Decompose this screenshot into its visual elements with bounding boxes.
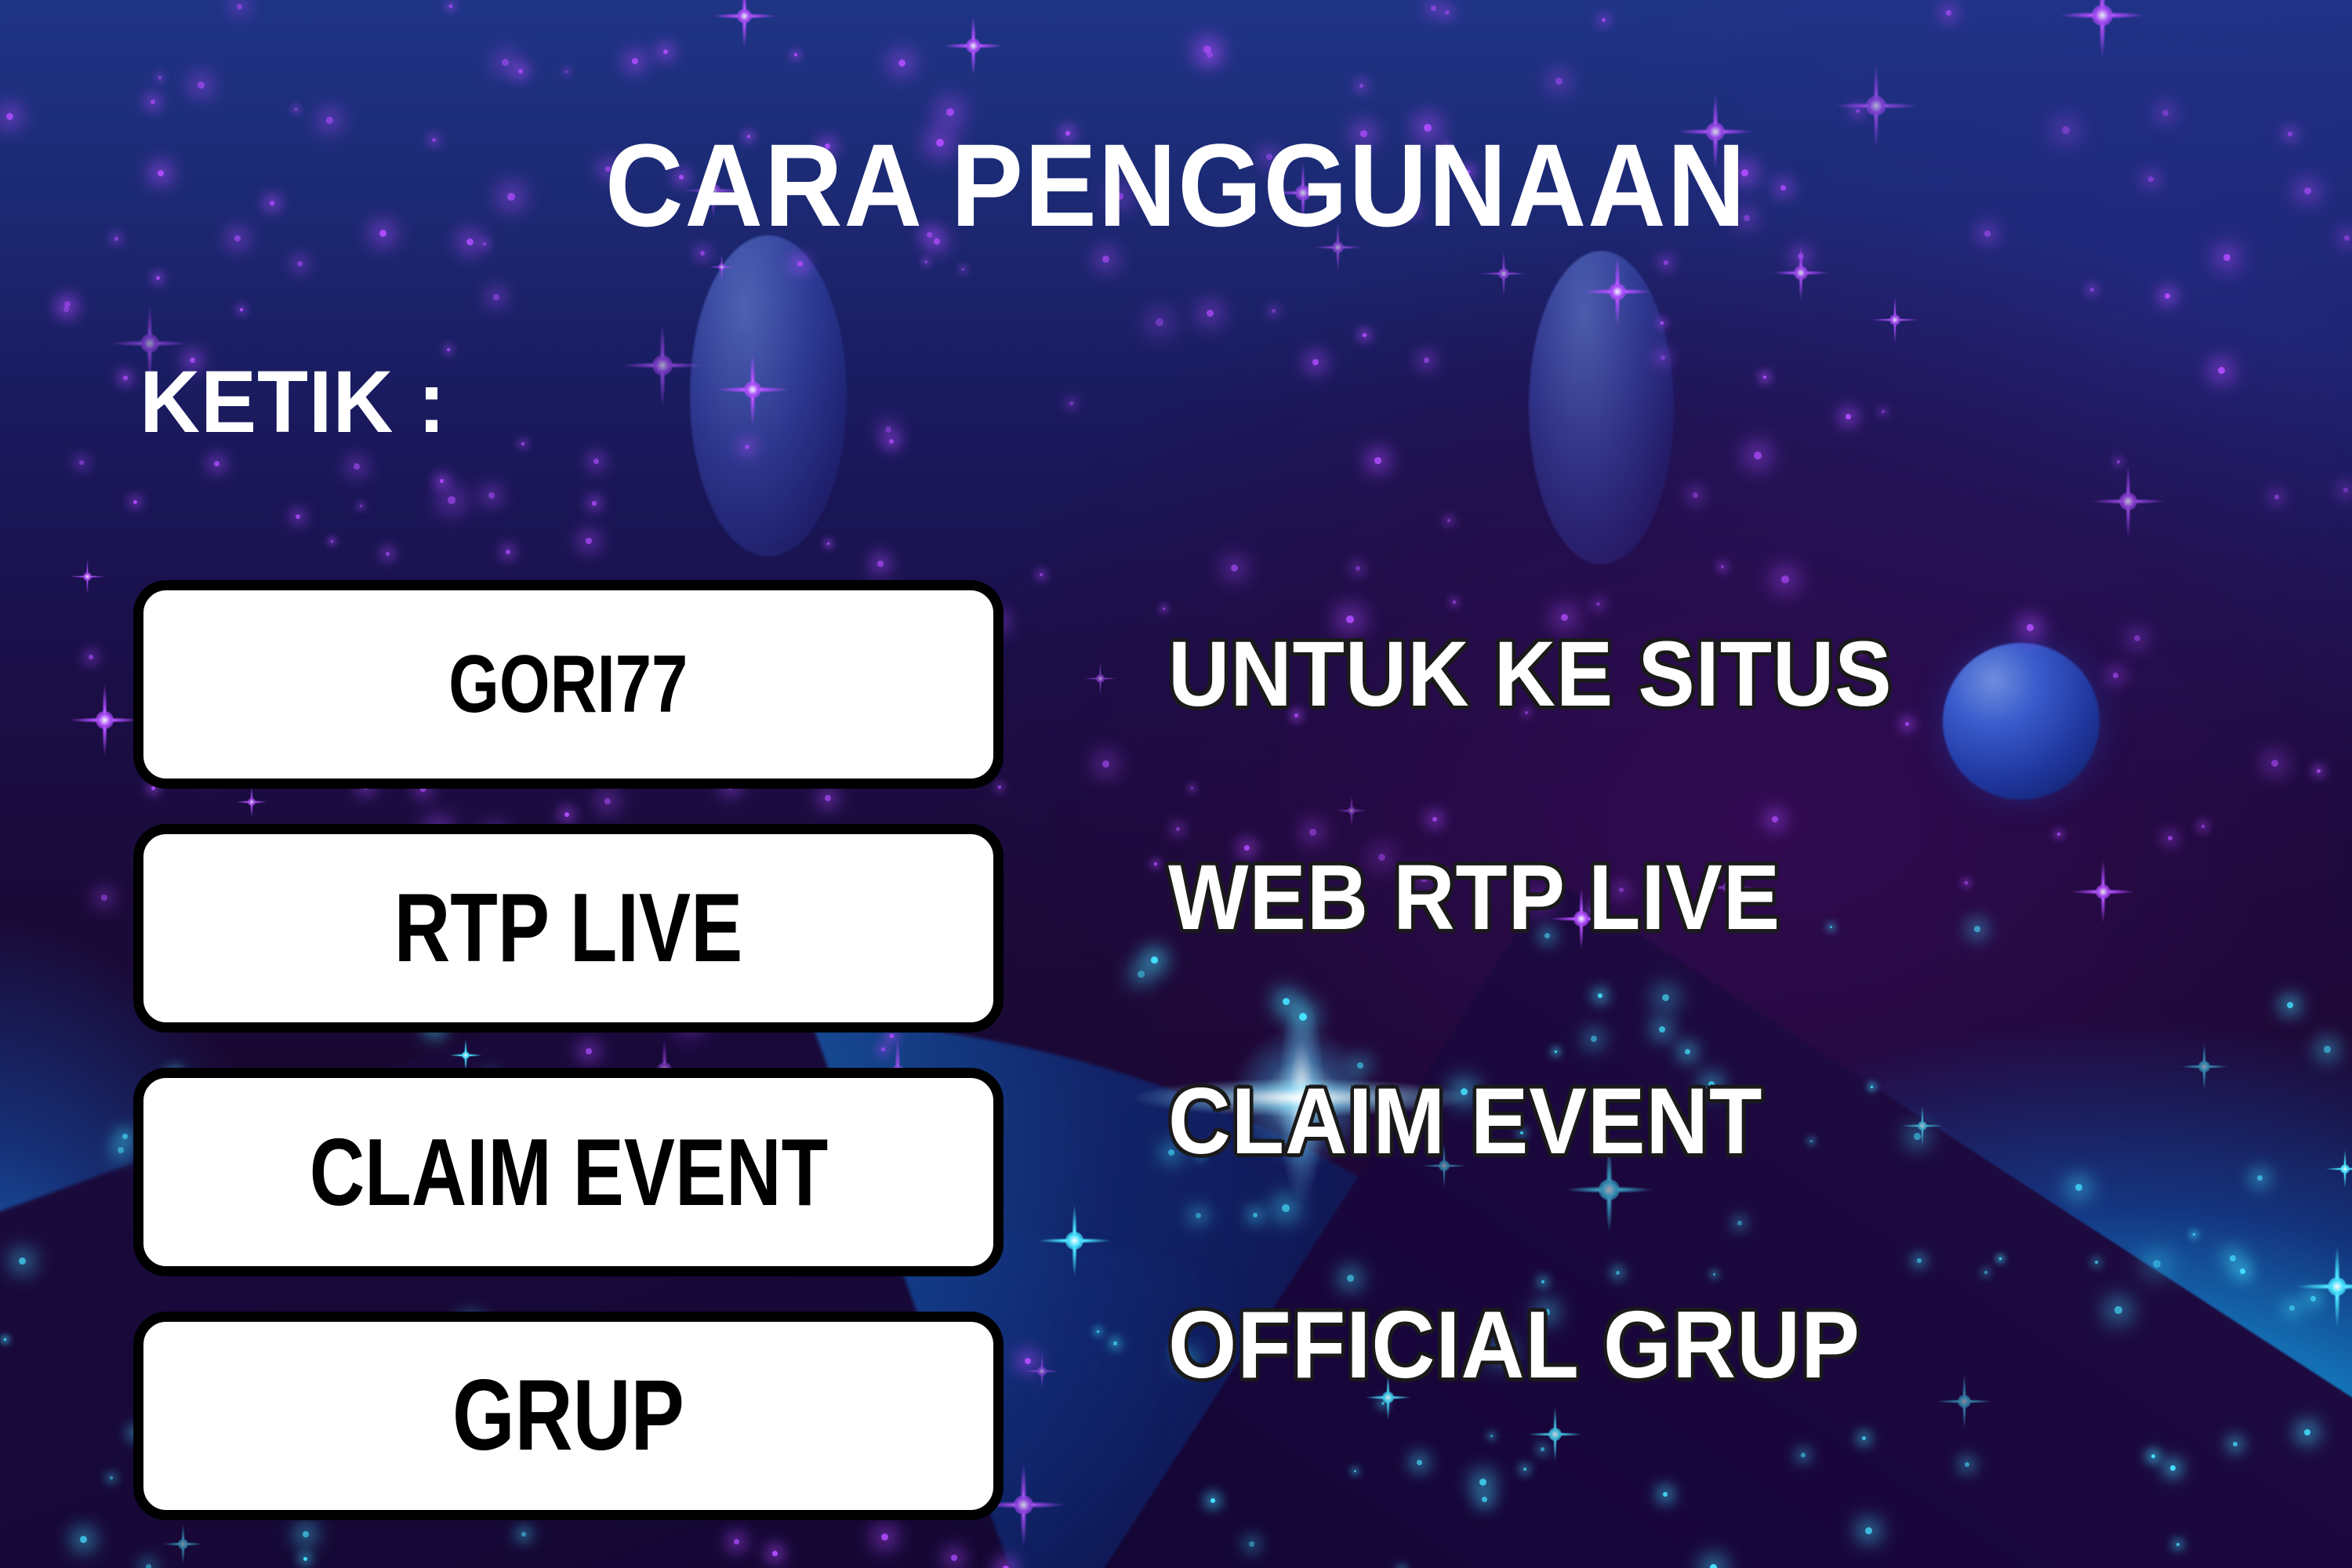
star-dot-icon [448, 496, 456, 504]
star-dot-icon [64, 307, 69, 312]
star-dot-icon [565, 71, 568, 73]
star-dot-icon [1754, 452, 1762, 459]
star-dot-icon [360, 505, 362, 507]
star-dot-icon [1447, 519, 1450, 522]
star-dot-icon [1156, 318, 1163, 326]
star-dot-icon [6, 113, 13, 120]
star-dot-icon [1431, 5, 1436, 11]
star-dot-icon [1312, 359, 1319, 365]
sparkle-star-icon [1871, 296, 1919, 344]
sparkle-star-icon [2325, 1149, 2352, 1189]
star-dot-icon [2317, 769, 2321, 773]
star-dot-icon [946, 108, 954, 116]
blue-orb-right [1529, 251, 1674, 564]
star-dot-icon [1359, 84, 1363, 88]
star-dot-icon [1102, 760, 1109, 768]
star-dot-icon [877, 561, 884, 567]
star-dot-icon [521, 442, 524, 445]
star-dot-icon [592, 501, 597, 506]
star-dot-icon [118, 1147, 124, 1153]
sparkle-star-icon [2296, 1246, 2352, 1327]
sparkle-star-icon [2091, 464, 2165, 539]
star-dot-icon [2090, 288, 2094, 292]
star-dot-icon [924, 260, 927, 263]
keyword-button-label: RTP LIVE [394, 880, 743, 977]
star-dot-icon [632, 58, 638, 64]
star-dot-icon [1207, 310, 1214, 317]
star-dot-icon [1856, 109, 1860, 113]
sparkle-star-icon [69, 558, 106, 595]
star-dot-icon [198, 82, 205, 89]
keyword-button-gori77[interactable]: GORI77 [133, 580, 1004, 789]
star-dot-icon [2310, 1296, 2316, 1301]
star-dot-icon [1946, 10, 1951, 16]
sparkle-star-icon [1083, 661, 1118, 696]
star-dot-icon [1102, 256, 1109, 263]
star-dot-icon [827, 543, 829, 545]
star-dot-icon [885, 426, 891, 433]
instruction-label: KETIK : [140, 351, 446, 452]
star-dot-icon [447, 348, 450, 351]
star-dot-icon [156, 276, 160, 280]
keyword-button-label: GRUP [452, 1366, 684, 1466]
star-dot-icon [449, 5, 452, 8]
star-dot-icon [493, 294, 499, 300]
star-dot-icon [1203, 45, 1211, 53]
star-dot-icon [2165, 293, 2170, 299]
star-dot-icon [237, 4, 242, 9]
star-dot-icon [79, 460, 84, 465]
page-title: CARA PENGGUNAAN [94, 118, 2258, 253]
star-dot-icon [1555, 78, 1563, 85]
star-dot-icon [1721, 565, 1724, 568]
star-dot-icon [2343, 488, 2348, 492]
description-untuk-ke-situs: UNTUK KE SITUS [1168, 580, 2192, 768]
star-dot-icon [502, 59, 509, 66]
star-dot-icon [593, 459, 599, 464]
sparkle-star-icon [2060, 0, 2145, 58]
star-dot-icon [2289, 1305, 2295, 1311]
star-dot-icon [440, 479, 444, 483]
star-dot-icon [1231, 564, 1238, 572]
star-dot-icon [1069, 401, 1073, 405]
keyword-button-label: CLAIM EVENT [309, 1124, 828, 1220]
star-dot-icon [296, 514, 300, 519]
star-dot-icon [1163, 608, 1165, 610]
star-dot-icon [889, 439, 894, 444]
star-dot-icon [1763, 376, 1766, 379]
star-dot-icon [1154, 862, 1157, 866]
star-dot-icon [354, 463, 360, 470]
star-dot-icon [1445, 10, 1450, 15]
star-dot-icon [1693, 492, 1698, 498]
keyword-button-claim-event[interactable]: CLAIM EVENT [133, 1068, 1004, 1276]
star-dot-icon [64, 301, 71, 307]
star-dot-icon [123, 376, 128, 380]
star-dot-icon [898, 60, 906, 67]
star-dot-icon [214, 461, 220, 466]
description-web-rtp-live: WEB RTP LIVE [1168, 804, 2192, 992]
star-dot-icon [2218, 367, 2225, 374]
description-list: UNTUK KE SITUS WEB RTP LIVE CLAIM EVENT … [1168, 580, 2281, 1474]
star-dot-icon [1356, 566, 1360, 571]
star-dot-icon [1272, 309, 1276, 313]
star-dot-icon [297, 261, 303, 267]
star-dot-icon [295, 108, 297, 111]
star-dot-icon [386, 552, 390, 556]
star-dot-icon [1602, 18, 1606, 22]
star-dot-icon [1207, 52, 1213, 58]
description-official-grup: OFFICIAL GRUP [1168, 1250, 2192, 1439]
star-dot-icon [133, 500, 137, 504]
sparkle-star-icon [712, 0, 777, 49]
keyword-button-grup[interactable]: GRUP [133, 1312, 1004, 1520]
star-dot-icon [586, 538, 592, 544]
blue-orb-left [690, 235, 847, 557]
star-dot-icon [101, 895, 107, 901]
star-dot-icon [2324, 1046, 2331, 1053]
star-dot-icon [2117, 460, 2120, 463]
star-dot-icon [518, 69, 523, 74]
keyword-button-label: GORI77 [448, 644, 688, 725]
star-dot-icon [506, 550, 510, 554]
star-dot-icon [2344, 235, 2350, 241]
star-dot-icon [2304, 187, 2311, 194]
star-dot-icon [962, 268, 964, 270]
star-dot-icon [2287, 1002, 2293, 1008]
star-dot-icon [2274, 495, 2279, 499]
star-dot-icon [89, 655, 93, 659]
star-dot-icon [2223, 254, 2230, 261]
star-dot-icon [1846, 414, 1851, 419]
sparkle-star-icon [68, 684, 141, 757]
description-claim-event: CLAIM EVENT [1168, 1027, 2192, 1215]
star-dot-icon [331, 540, 333, 543]
star-dot-icon [151, 100, 155, 104]
star-dot-icon [1424, 358, 1429, 363]
star-dot-icon [122, 1134, 128, 1139]
keyword-button-rtp-live[interactable]: RTP LIVE [133, 824, 1004, 1033]
star-dot-icon [1363, 333, 1367, 337]
star-dot-icon [663, 49, 668, 54]
star-dot-icon [240, 308, 243, 311]
star-dot-icon [2288, 132, 2292, 136]
sparkle-star-icon [943, 16, 1004, 76]
star-dot-icon [1040, 573, 1043, 576]
star-dot-icon [1664, 260, 1668, 265]
poster-canvas: CARA PENGGUNAAN KETIK : GORI77 RTP LIVE … [0, 0, 2352, 1568]
star-dot-icon [1882, 410, 1885, 413]
keyword-button-list: GORI77 RTP LIVE CLAIM EVENT GRUP [133, 580, 1004, 1555]
star-dot-icon [1798, 253, 1804, 260]
star-dot-icon [2162, 110, 2169, 116]
star-dot-icon [488, 492, 495, 499]
star-dot-icon [1374, 457, 1381, 464]
star-dot-icon [794, 53, 797, 56]
star-dot-icon [158, 76, 162, 79]
sparkle-star-icon [1480, 250, 1527, 297]
